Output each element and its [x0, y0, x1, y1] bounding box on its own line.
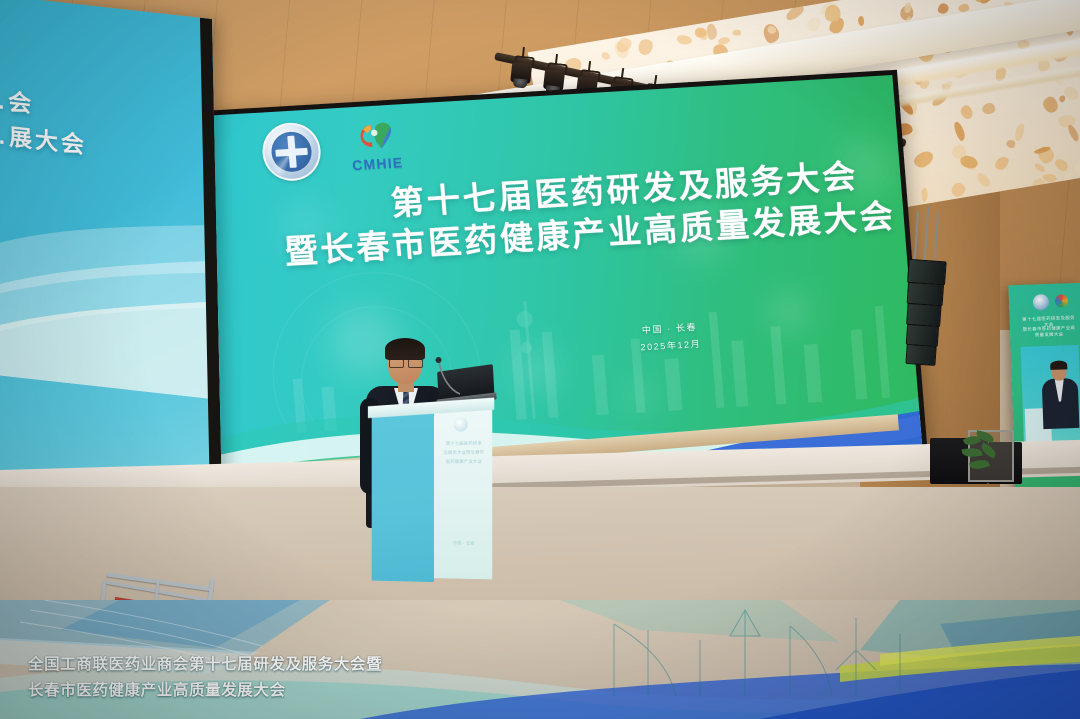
cmhie-logo-text: CMHIE: [352, 154, 404, 173]
podium-footer-text: 中国 · 长春: [444, 540, 484, 547]
ceiling-petal: [921, 188, 927, 202]
ceiling-petal: [858, 16, 864, 26]
podium-left-face: [372, 410, 434, 582]
left-panel-text: …会 …展大会: [0, 82, 87, 163]
ceiling-petal: [993, 154, 1011, 172]
screen-logo-row: CMHIE: [260, 116, 404, 182]
left-panel-wave: [0, 182, 224, 405]
ceiling-petal: [959, 104, 974, 121]
speaker-hair: [385, 338, 425, 360]
banner-cmhie-icon: [1055, 294, 1068, 307]
podium-plaque-line-2: 及服务大会暨长春市: [440, 448, 488, 457]
podium-plaque-line-1: 第十七届医药研发: [440, 439, 488, 449]
speaker-podium: 第十七届医药研发 及服务大会暨长春市 医药健康产业大会 中国 · 长春: [372, 403, 493, 584]
bottom-caption-banner: 全国工商联医药业商会第十七届研发及服务大会暨 长春市医药健康产业高质量发展大会: [0, 600, 1080, 719]
cmhie-logo: CMHIE: [348, 116, 404, 173]
skyline-sphere: [516, 311, 533, 328]
ceiling-petal: [635, 36, 655, 57]
cmhie-heart-icon: [348, 116, 403, 155]
conference-photo: CMHIE 第十七届医药研发及服务大会 暨长春市医药健康产业高质量发展大会 中国…: [0, 0, 1080, 719]
ceiling-petal: [912, 149, 936, 170]
ceiling-petal: [676, 34, 693, 46]
banner-caption-line-1: 全国工商联医药业商会第十七届研发及服务大会暨: [28, 652, 382, 678]
ceiling-petal: [706, 23, 717, 40]
ceiling-petal: [717, 36, 730, 46]
ceiling-petal: [805, 15, 823, 34]
podium-plaque-text: 第十七届医药研发 及服务大会暨长春市 医药健康产业大会: [440, 439, 488, 466]
ceiling-petal: [1013, 123, 1026, 143]
podium-plaque-line-3: 医药健康产业大会: [440, 457, 488, 466]
ceiling-petal: [1042, 95, 1060, 114]
banner-emblem-icon: [1033, 294, 1050, 311]
emblem-ring-highlight: [263, 124, 319, 179]
banner-caption-line-2: 长春市医药健康产业高质量发展大会: [28, 678, 382, 704]
ceiling-petal: [982, 103, 996, 115]
stage-plant: [960, 432, 1006, 486]
feed-speaker-hair: [1050, 360, 1067, 370]
ceiling-petal: [953, 120, 967, 142]
ceiling-petal: [1053, 156, 1070, 173]
ceiling-petal: [936, 1, 951, 16]
ceiling-petal: [949, 181, 968, 199]
ceiling-petal: [1066, 123, 1080, 142]
banner-heading-2: 暨长春市医药健康产业高质量发展大会: [1022, 325, 1076, 339]
line-array-speaker: [901, 257, 947, 369]
ceiling-petal: [1072, 159, 1080, 176]
ceiling-petal: [975, 171, 992, 189]
ceiling-petal: [600, 51, 611, 62]
banner-live-feed: [1021, 345, 1080, 451]
spotlight-fixture: [509, 55, 534, 91]
cmhie-heart-svg: [348, 116, 403, 155]
cmpa-circular-emblem-icon: [260, 121, 323, 182]
banner-caption: 全国工商联医药业商会第十七届研发及服务大会暨 长春市医药健康产业高质量发展大会: [28, 652, 382, 703]
podium-microphone: [424, 352, 464, 396]
ceiling-petal: [732, 29, 741, 36]
speaker-glasses-icon: [389, 359, 421, 366]
